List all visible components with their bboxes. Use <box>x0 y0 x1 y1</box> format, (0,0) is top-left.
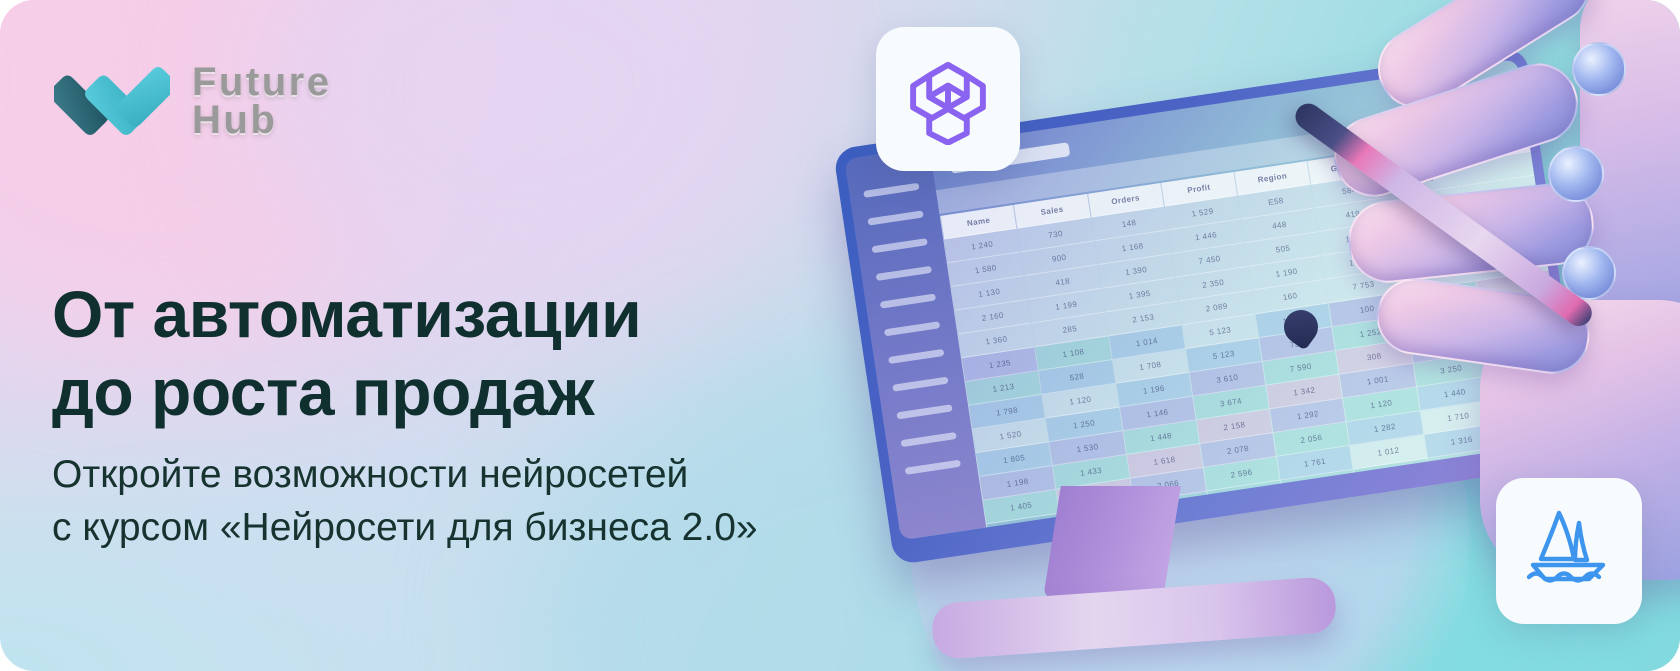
brand-wordmark: Future Hub <box>192 63 331 140</box>
midjourney-sailboat-icon <box>1519 503 1619 599</box>
brand-logo[interactable]: Future Hub <box>54 62 331 140</box>
robot-knuckle <box>1548 146 1604 202</box>
page-subtitle: Откройте возможности нейросетей с курсом… <box>52 448 758 554</box>
page-title: От автоматизации до роста продаж <box>52 276 641 432</box>
content-column: Future Hub От автоматизации до роста про… <box>48 0 948 671</box>
promo-banner: Name1 2401 5801 1302 1601 3601 2351 2131… <box>0 0 1680 671</box>
robot-knuckle <box>1572 42 1626 96</box>
openai-logo-icon <box>902 53 994 145</box>
monitor-neck <box>1043 486 1181 598</box>
futurehub-double-chevron-logo-icon <box>54 62 170 140</box>
robot-hand <box>1180 0 1680 530</box>
openai-badge[interactable] <box>876 27 1020 171</box>
midjourney-badge[interactable] <box>1496 478 1642 624</box>
brand-name-line1: Future <box>192 63 331 101</box>
brand-name-line2: Hub <box>192 101 331 139</box>
stylus-tip <box>1277 303 1324 350</box>
